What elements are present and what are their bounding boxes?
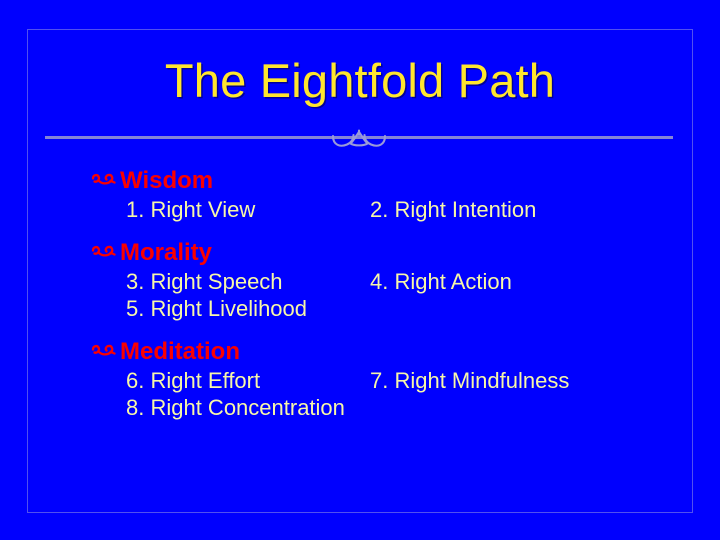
slide: The Eightfold Path [0, 0, 720, 540]
group-heading-label: Morality [120, 238, 212, 268]
eightfold-path-list: Wisdom 1. Right View 2. Right Intention [90, 166, 670, 421]
page-title: The Eightfold Path [0, 55, 720, 107]
group-heading-label: Meditation [120, 337, 240, 367]
flourish-ornament-icon [327, 126, 391, 150]
group-heading-label: Wisdom [120, 166, 213, 196]
list-item: 6. Right Effort 7. Right Mindfulness [90, 367, 670, 394]
group-heading-meditation: Meditation [90, 337, 670, 367]
flourish-bullet-icon [90, 237, 120, 267]
title-divider [45, 135, 673, 139]
list-item-col1: 3. Right Speech [90, 268, 370, 295]
group-morality: Morality 3. Right Speech 4. Right Action… [90, 238, 670, 322]
list-item-col1: 6. Right Effort [90, 367, 370, 394]
list-item-col2: 2. Right Intention [370, 196, 536, 223]
list-item: 3. Right Speech 4. Right Action [90, 268, 670, 295]
group-meditation: Meditation 6. Right Effort 7. Right Mind… [90, 337, 670, 421]
list-item: 8. Right Concentration [90, 394, 670, 421]
list-item-col1: 1. Right View [90, 196, 370, 223]
list-item-col1: 5. Right Livelihood [90, 295, 370, 322]
list-item: 5. Right Livelihood [90, 295, 670, 322]
list-item-col2: 4. Right Action [370, 268, 512, 295]
list-item-col2: 7. Right Mindfulness [370, 367, 569, 394]
flourish-bullet-icon [90, 336, 120, 366]
group-heading-morality: Morality [90, 238, 670, 268]
list-item-col1: 8. Right Concentration [90, 394, 370, 421]
group-wisdom: Wisdom 1. Right View 2. Right Intention [90, 166, 670, 223]
group-heading-wisdom: Wisdom [90, 166, 670, 196]
list-item: 1. Right View 2. Right Intention [90, 196, 670, 223]
flourish-bullet-icon [90, 165, 120, 195]
